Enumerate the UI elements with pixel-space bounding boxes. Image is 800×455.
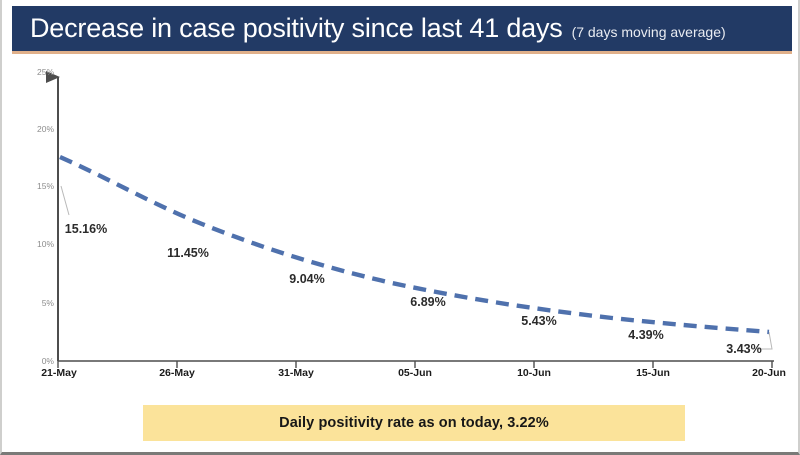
y-tick-label: 0% [42, 356, 54, 366]
y-tick-label: 5% [42, 298, 54, 308]
page-title: Decrease in case positivity since last 4… [30, 13, 563, 44]
y-tick-label: 15% [37, 181, 54, 191]
data-point-label: 3.43% [726, 342, 761, 356]
slide-title-bar: Decrease in case positivity since last 4… [12, 6, 792, 54]
page-subtitle: (7 days moving average) [572, 24, 726, 40]
chart-plot-area: 25% 20% 15% 10% 5% 0% 21-May 26-May 31-M… [12, 57, 792, 397]
data-point-label: 4.39% [628, 328, 663, 342]
data-point-label: 15.16% [65, 222, 107, 236]
x-tick-label: 31-May [278, 367, 314, 379]
x-tick-label: 15-Jun [636, 367, 670, 379]
data-point-label: 11.45% [167, 246, 209, 260]
positivity-line-chart [12, 57, 792, 397]
y-tick-label: 10% [37, 239, 54, 249]
footer-banner-text: Daily positivity rate as on today, 3.22% [279, 415, 549, 431]
y-axis-labels: 25% 20% 15% 10% 5% 0% [26, 57, 54, 397]
x-tick-label: 21-May [41, 367, 77, 379]
data-point-label: 5.43% [521, 314, 556, 328]
data-point-label: 6.89% [410, 295, 445, 309]
y-tick-label: 20% [37, 124, 54, 134]
footer-highlight-banner: Daily positivity rate as on today, 3.22% [143, 405, 685, 441]
x-tick-label: 20-Jun [752, 367, 786, 379]
data-point-label: 9.04% [289, 272, 324, 286]
x-tick-label: 26-May [159, 367, 195, 379]
x-tick-label: 05-Jun [398, 367, 432, 379]
x-tick-label: 10-Jun [517, 367, 551, 379]
y-tick-label: 25% [37, 67, 54, 77]
slide-canvas: Decrease in case positivity since last 4… [0, 0, 800, 455]
x-axis-labels: 21-May 26-May 31-May 05-Jun 10-Jun 15-Ju… [12, 367, 792, 391]
